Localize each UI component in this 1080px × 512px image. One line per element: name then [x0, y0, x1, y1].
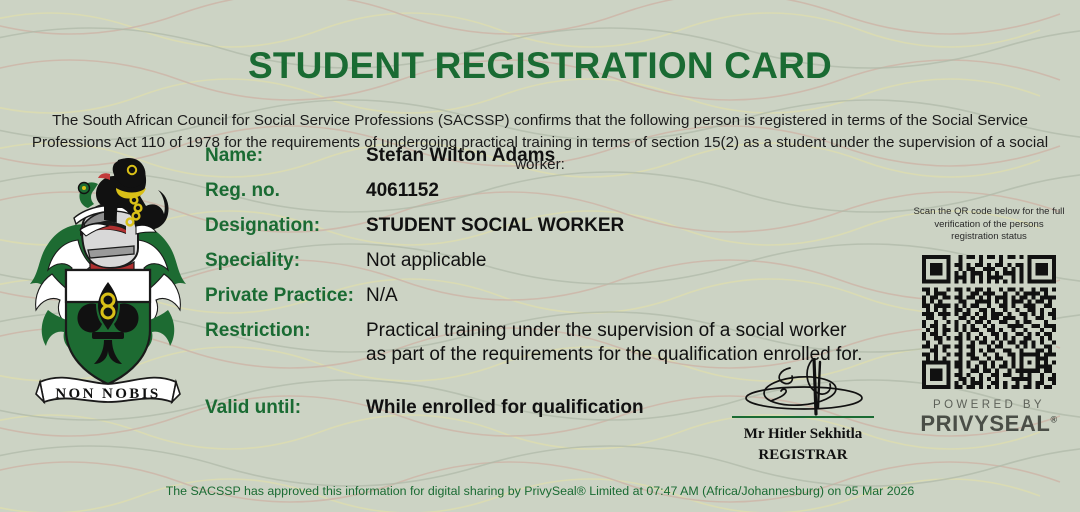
- registered-trademark-mark: ®: [1050, 415, 1057, 425]
- footer-approval-text: The SACSSP has approved this information…: [0, 484, 1080, 498]
- field-row-private-practice: Private Practice: N/A: [205, 284, 895, 310]
- field-label-restriction: Restriction:: [205, 319, 366, 342]
- field-value-reg-no: 4061152: [366, 179, 439, 203]
- crest-motto-text: NON NOBIS: [55, 386, 160, 402]
- field-label-private-practice: Private Practice:: [205, 285, 366, 307]
- field-label-speciality: Speciality:: [205, 250, 366, 272]
- field-value-name: Stefan Wilton Adams: [366, 144, 555, 168]
- field-row-designation: Designation: STUDENT SOCIAL WORKER: [205, 214, 895, 240]
- signature-rule: [732, 416, 874, 418]
- student-registration-card: STUDENT REGISTRATION CARD The South Afri…: [0, 0, 1080, 512]
- card-body: NON NOBIS Name: Stefan Wilton Adams Reg.…: [0, 136, 1080, 476]
- field-value-speciality: Not applicable: [366, 249, 486, 273]
- field-row-reg-no: Reg. no. 4061152: [205, 179, 895, 205]
- field-label-name: Name:: [205, 145, 366, 167]
- field-label-reg-no: Reg. no.: [205, 180, 366, 202]
- signatory-role: REGISTRAR: [728, 445, 878, 466]
- brand-name-text: PRIVYSEAL®: [905, 412, 1073, 436]
- field-value-private-practice: N/A: [366, 284, 398, 308]
- brand-powered-by-text: POWERED BY: [905, 399, 1073, 411]
- qr-verification-panel: Scan the QR code below for the full veri…: [905, 206, 1073, 436]
- qr-code[interactable]: [922, 255, 1056, 389]
- page-title: STUDENT REGISTRATION CARD: [0, 25, 1080, 86]
- field-label-valid-until: Valid until:: [205, 397, 366, 419]
- field-row-speciality: Speciality: Not applicable: [205, 249, 895, 275]
- brand-name-label: PRIVYSEAL: [920, 411, 1050, 436]
- field-value-designation: STUDENT SOCIAL WORKER: [366, 214, 624, 238]
- coat-of-arms-crest: NON NOBIS: [18, 144, 198, 416]
- privyseal-branding: POWERED BY PRIVYSEAL®: [905, 399, 1073, 436]
- field-label-designation: Designation:: [205, 215, 366, 237]
- signature-image: [728, 358, 878, 416]
- signatory-name: Mr Hitler Sekhitla: [728, 424, 878, 445]
- field-value-valid-until: While enrolled for qualification: [366, 396, 644, 420]
- qr-caption: Scan the QR code below for the full veri…: [905, 206, 1073, 244]
- signature-block: Mr Hitler Sekhitla REGISTRAR: [728, 358, 878, 467]
- field-row-name: Name: Stefan Wilton Adams: [205, 144, 895, 170]
